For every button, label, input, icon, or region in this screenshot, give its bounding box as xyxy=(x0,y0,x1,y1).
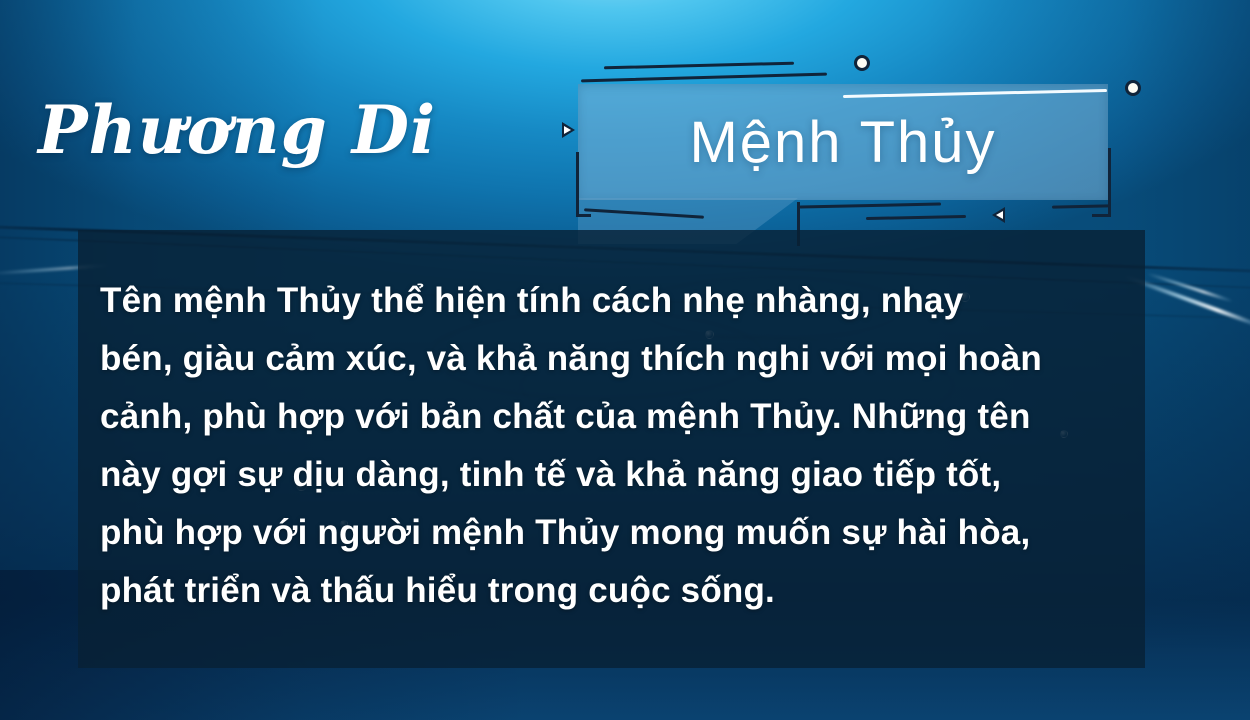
body-line: phù hợp với người mệnh Thủy mong muốn sự… xyxy=(100,504,1119,562)
corner-bracket-left xyxy=(576,152,591,217)
body-line: cảnh, phù hợp với bản chất của mệnh Thủy… xyxy=(100,388,1119,446)
back-triangle-icon xyxy=(992,207,1005,223)
play-triangle-icon xyxy=(562,122,575,138)
brand-logo: Phương Di xyxy=(38,78,498,182)
page-title: Mệnh Thủy xyxy=(578,84,1108,200)
circle-marker-top xyxy=(854,55,870,71)
slide-canvas: Phương Di Mệnh Thủy Tên mệnh Thủy thể hi… xyxy=(0,0,1250,720)
circle-marker-right xyxy=(1125,80,1141,96)
body-line: bén, giàu cảm xúc, và khả năng thích ngh… xyxy=(100,330,1119,388)
body-line: phát triển và thấu hiểu trong cuộc sống. xyxy=(100,562,1119,620)
body-line: này gợi sự dịu dàng, tinh tế và khả năng… xyxy=(100,446,1119,504)
body-paragraph: Tên mệnh Thủy thể hiện tính cách nhẹ nhà… xyxy=(78,230,1145,668)
body-line: Tên mệnh Thủy thể hiện tính cách nhẹ nhà… xyxy=(100,272,1119,330)
